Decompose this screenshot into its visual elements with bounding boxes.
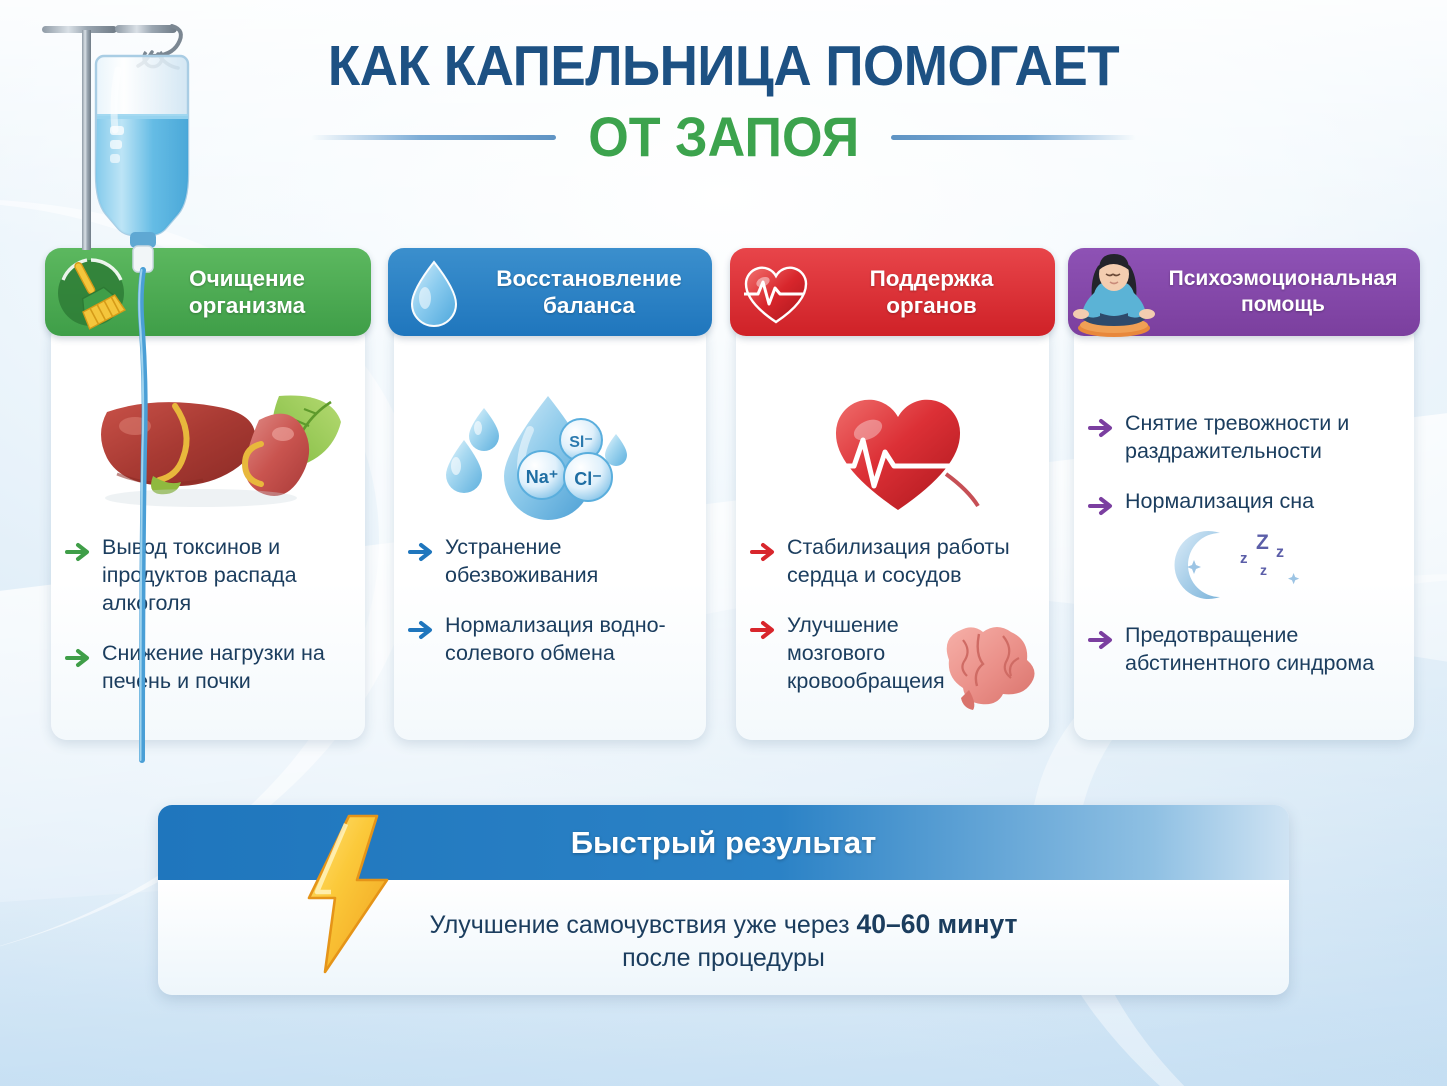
header-line-1: Восстановление (480, 265, 698, 292)
arrow-right-icon (1088, 627, 1114, 653)
water-drop-icon (388, 248, 480, 336)
bullet-item: Стабилизация работы сердца и сосудов (750, 534, 1035, 590)
svg-text:Na⁺: Na⁺ (526, 467, 559, 487)
header-line-2: помощь (1160, 292, 1406, 318)
benefit-cards-row: Очищение организма (0, 248, 1447, 743)
header-line-1: Очищение (137, 265, 357, 292)
sleeping-moon-zzz-illustration: Z z z z (1088, 523, 1400, 612)
card-header-organs: Поддержка органов (730, 248, 1055, 336)
bullet-text: Вывод токсинов и іпродуктов распада алко… (102, 534, 351, 618)
bullet-text: Нормализация водно-солевого обмена (445, 612, 692, 668)
cleaning-broom-icon (45, 248, 137, 336)
card-body-cleaning: Вывод токсинов и іпродуктов распада алко… (51, 322, 365, 740)
bullet-item: Вывод токсинов и іпродуктов распада алко… (65, 534, 351, 618)
arrow-right-icon (1088, 493, 1114, 519)
subtitle-row: ОТ ЗАПОЯ (0, 109, 1447, 165)
card-header-label-psychoemotional: Психоэмоциональная помощь (1160, 266, 1420, 317)
arrow-right-icon (750, 539, 776, 565)
divider-line-left (311, 135, 556, 140)
arrow-right-icon (65, 539, 91, 565)
svg-text:z: z (1260, 562, 1267, 578)
card-bullets-organs: Стабилизация работы сердца и сосудов Улу… (750, 534, 1035, 718)
card-psychoemotional[interactable]: Психоэмоциональная помощь Снятие тревожн… (1068, 248, 1420, 740)
svg-text:Sl⁻: Sl⁻ (569, 434, 593, 451)
page-title: КАК КАПЕЛЬНИЦА ПОМОГАЕТ (51, 38, 1397, 95)
bullet-item: Снятие тревожности и раздражительности (1088, 410, 1400, 466)
bullet-item: Снижение нагрузки на печень и почки (65, 640, 351, 696)
heart-pulse-icon (730, 248, 822, 336)
svg-text:z: z (1240, 550, 1248, 567)
bullet-item: Нормализация водно-солевого обмена (408, 612, 692, 668)
card-organs[interactable]: Поддержка органов (730, 248, 1055, 740)
arrow-right-icon (408, 617, 434, 643)
header-line-2: баланса (480, 292, 698, 319)
banner-line-2: после процедуры (622, 942, 825, 975)
banner-title: Быстрый результат (571, 825, 877, 861)
bullet-text: Нормализация сна (1125, 488, 1314, 516)
banner-line-1-text: Улучшение самочувствия уже через (429, 911, 856, 939)
arrow-right-icon (750, 617, 776, 643)
bullet-item: Нормализация сна (1088, 488, 1400, 519)
page-subtitle: ОТ ЗАПОЯ (568, 109, 880, 165)
fast-result-banner[interactable]: Быстрый результат Улучшение самочувствия… (158, 805, 1289, 995)
heart-heartbeat-illustration (750, 378, 1035, 528)
card-header-label-cleaning: Очищение организма (137, 265, 371, 320)
liver-kidney-leaf-illustration (65, 378, 351, 528)
electrolyte-droplets-illustration: Sl⁻ Na⁺ Cl⁻ (408, 378, 692, 528)
title-block: КАК КАПЕЛЬНИЦА ПОМОГАЕТ ОТ ЗАПОЯ (0, 38, 1447, 165)
arrow-right-icon (65, 645, 91, 671)
bullet-item: Предотвращение абстинентного синдрома (1088, 622, 1400, 678)
header-line-2: организма (137, 292, 357, 319)
bullet-text: Снижение нагрузки на печень и почки (102, 640, 351, 696)
svg-text:z: z (1276, 544, 1284, 561)
header-line-1: Поддержка (822, 265, 1041, 292)
svg-text:Z: Z (1256, 531, 1269, 554)
card-bullets-balance: Устранение обезвоживания Нормализация во… (408, 534, 692, 690)
card-body-psychoemotional: Снятие тревожности и раздражительности Н… (1074, 322, 1414, 740)
meditating-woman-icon (1068, 248, 1160, 336)
card-bullets-cleaning: Вывод токсинов и іпродуктов распада алко… (65, 534, 351, 718)
bullet-text: Улучшение мозгового кровообращеия (787, 612, 937, 696)
bullet-text: Предотвращение абстинентного синдрома (1125, 622, 1400, 678)
card-cleaning[interactable]: Очищение организма (45, 248, 371, 740)
header-line-1: Психоэмоциональная (1160, 266, 1406, 292)
card-bullets-psychoemotional: Снятие тревожности и раздражительности Н… (1088, 410, 1400, 700)
brain-illustration (933, 618, 1041, 715)
banner-line-1: Улучшение самочувствия уже через 40–60 м… (429, 907, 1017, 942)
divider-line-right (891, 135, 1136, 140)
card-header-cleaning: Очищение организма (45, 248, 371, 336)
card-balance[interactable]: Восстановление баланса (388, 248, 712, 740)
svg-text:Cl⁻: Cl⁻ (574, 469, 602, 489)
bullet-item: Устранение обезвоживания (408, 534, 692, 590)
bullet-text: Снятие тревожности и раздражительности (1125, 410, 1400, 466)
bullet-text: Устранение обезвоживания (445, 534, 692, 590)
header-line-2: органов (822, 292, 1041, 319)
card-header-label-organs: Поддержка органов (822, 265, 1055, 320)
lightning-bolt-icon (291, 812, 401, 977)
arrow-right-icon (408, 539, 434, 565)
card-body-organs: Стабилизация работы сердца и сосудов Улу… (736, 322, 1049, 740)
card-body-balance: Sl⁻ Na⁺ Cl⁻ Устранение обезвоживания (394, 322, 706, 740)
banner-duration: 40–60 минут (857, 909, 1018, 939)
bullet-item: Улучшение мозгового кровообращеия (750, 612, 1035, 696)
bullet-text: Стабилизация работы сердца и сосудов (787, 534, 1035, 590)
card-header-label-balance: Восстановление баланса (480, 265, 712, 320)
card-header-psychoemotional: Психоэмоциональная помощь (1068, 248, 1420, 336)
card-header-balance: Восстановление баланса (388, 248, 712, 336)
arrow-right-icon (1088, 415, 1114, 441)
